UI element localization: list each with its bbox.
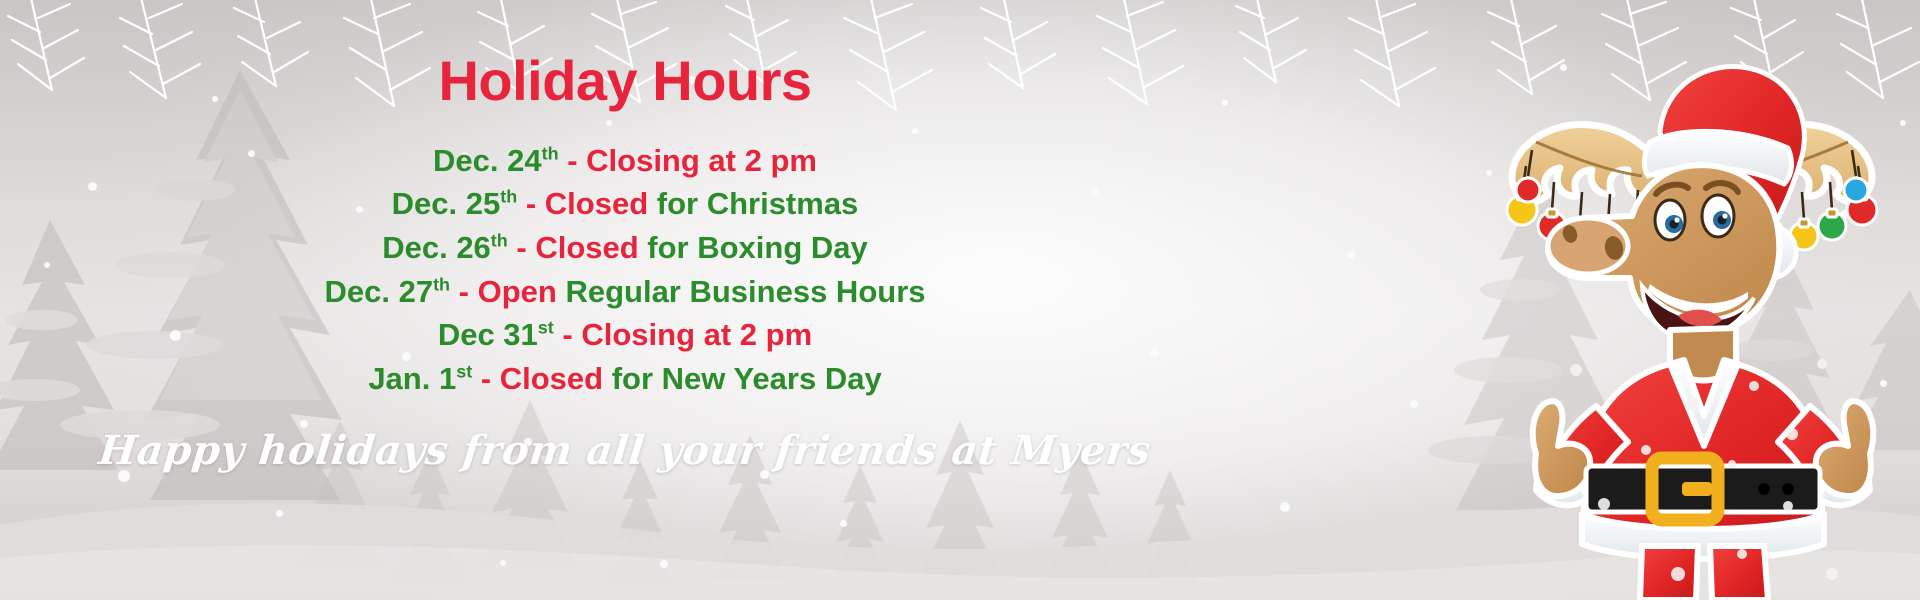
- hours-rest: at 2 pm: [695, 317, 812, 352]
- hours-date: Jan. 1: [368, 361, 456, 396]
- page-title: Holiday Hours: [438, 52, 811, 111]
- banner-content: Holiday Hours Dec. 24th - Closing at 2 p…: [0, 0, 1250, 600]
- holiday-hours-list: Dec. 24th - Closing at 2 pm Dec. 25th - …: [325, 141, 926, 399]
- hours-status: Closed: [535, 230, 638, 265]
- moose-snout-icon: [1548, 218, 1628, 274]
- hours-date: Dec. 26: [382, 230, 491, 265]
- hours-status: Closed: [500, 361, 603, 396]
- hours-rest: for Boxing Day: [639, 230, 868, 265]
- hours-ordinal: th: [542, 143, 559, 163]
- hours-separator: -: [554, 317, 582, 352]
- hours-ordinal: th: [500, 187, 517, 207]
- hours-date: Dec. 25: [392, 186, 501, 221]
- hours-line: Jan. 1st - Closed for New Years Day: [368, 359, 881, 399]
- holiday-hours-banner: Holiday Hours Dec. 24th - Closing at 2 p…: [0, 0, 1920, 600]
- hours-status: Closing: [581, 317, 695, 352]
- hours-status: Closing: [586, 143, 700, 178]
- hours-line: Dec. 25th - Closed for Christmas: [392, 184, 859, 224]
- hours-separator: -: [508, 230, 536, 265]
- hours-line: Dec. 26th - Closed for Boxing Day: [382, 228, 868, 268]
- hours-status: Open: [478, 274, 557, 309]
- hours-date: Dec. 24: [433, 143, 542, 178]
- hours-rest: for Christmas: [648, 186, 858, 221]
- hours-ordinal: st: [538, 318, 554, 338]
- hours-ordinal: th: [491, 231, 508, 251]
- santa-moose-mascot: [1492, 34, 1892, 600]
- hours-date: Dec 31: [438, 317, 538, 352]
- hours-status: Closed: [545, 186, 648, 221]
- hours-separator: -: [517, 186, 545, 221]
- hours-ordinal: st: [456, 362, 472, 382]
- signature-text: Happy holidays from all your friends at …: [97, 427, 1154, 474]
- hours-line: Dec 31st - Closing at 2 pm: [438, 315, 812, 355]
- santa-moose-icon: [1492, 34, 1892, 600]
- hours-separator: -: [472, 361, 500, 396]
- hours-rest: Regular Business Hours: [557, 274, 926, 309]
- hours-date: Dec. 27: [325, 274, 434, 309]
- hours-ordinal: th: [433, 274, 450, 294]
- hours-rest: for New Years Day: [603, 361, 882, 396]
- hours-line: Dec. 24th - Closing at 2 pm: [433, 141, 817, 181]
- hours-separator: -: [559, 143, 587, 178]
- hours-rest: at 2 pm: [700, 143, 817, 178]
- santa-belt-icon: [1586, 458, 1820, 520]
- hours-line: Dec. 27th - Open Regular Business Hours: [325, 272, 926, 312]
- hours-separator: -: [450, 274, 478, 309]
